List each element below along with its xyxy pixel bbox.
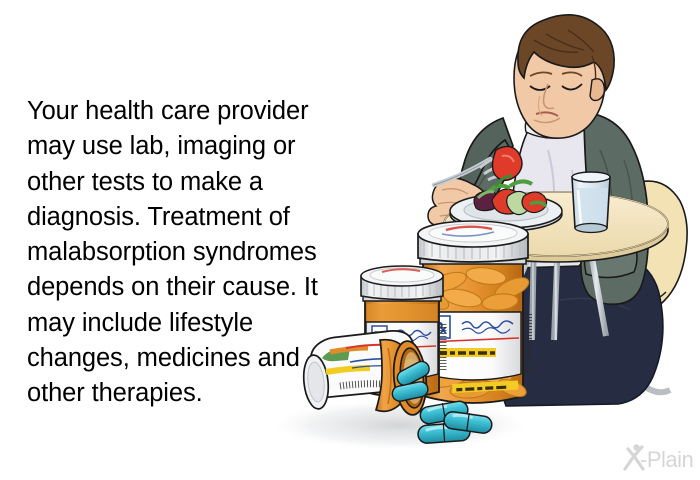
water-glass [572,172,610,233]
bottle-cap-medium [361,266,443,300]
xplain-logo: -Plain [620,443,696,475]
bottle-cap-large [418,221,528,262]
logo-text: -Plain [640,447,693,473]
slide-canvas: ℞ [0,0,700,480]
body-text: Your health care provider may use lab, i… [27,94,357,412]
